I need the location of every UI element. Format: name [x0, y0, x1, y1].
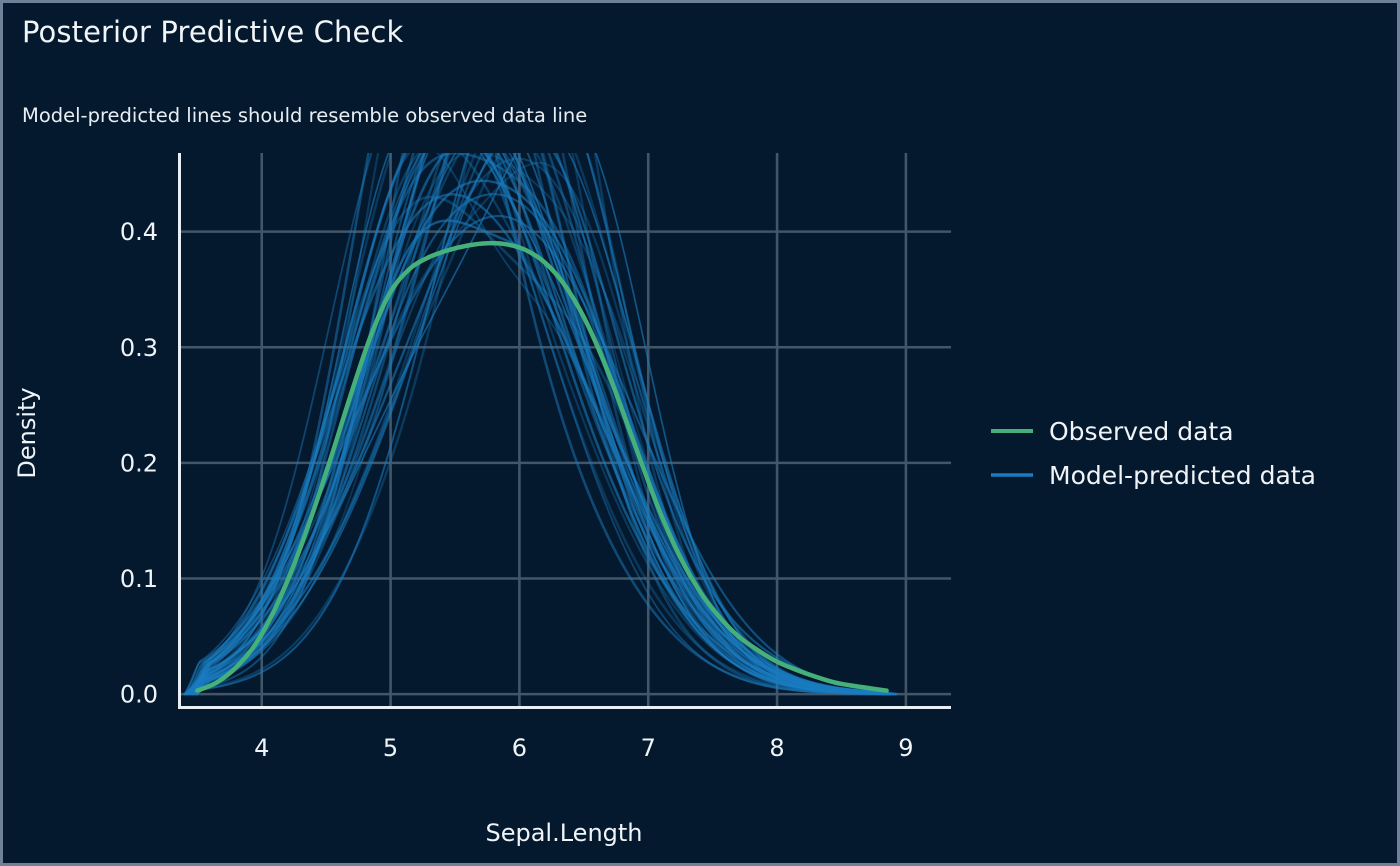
x-axis-tick-labels: 456789 — [254, 734, 913, 762]
y-tick-label: 0.3 — [120, 334, 158, 362]
model-predicted-ensemble — [185, 3, 897, 694]
x-tick-label: 9 — [898, 734, 913, 762]
y-axis-tick-labels: 0.00.10.20.30.4 — [120, 218, 158, 709]
model-predicted-line — [197, 3, 892, 694]
model-predicted-line — [194, 159, 885, 694]
x-tick-label: 7 — [641, 734, 656, 762]
y-tick-label: 0.4 — [120, 218, 158, 246]
x-tick-label: 8 — [769, 734, 784, 762]
x-tick-label: 6 — [512, 734, 527, 762]
plot-canvas: 456789 0.00.10.20.30.4 Sepal.Length Dens… — [3, 3, 1400, 866]
legend-label[interactable]: Observed data — [1049, 417, 1234, 446]
x-tick-label: 4 — [254, 734, 269, 762]
legend-label[interactable]: Model-predicted data — [1049, 461, 1316, 490]
y-tick-label: 0.2 — [120, 449, 158, 477]
y-axis-label: Density — [13, 387, 41, 478]
chart-figure: Posterior Predictive Check Model-predict… — [0, 0, 1400, 866]
model-predicted-line — [195, 197, 896, 694]
chart-legend: Observed dataModel-predicted data — [991, 417, 1316, 490]
y-tick-label: 0.0 — [120, 681, 158, 709]
model-predicted-line — [193, 106, 890, 694]
x-axis-label: Sepal.Length — [485, 819, 642, 847]
y-tick-label: 0.1 — [120, 565, 158, 593]
x-tick-label: 5 — [383, 734, 398, 762]
gridlines — [178, 153, 951, 708]
